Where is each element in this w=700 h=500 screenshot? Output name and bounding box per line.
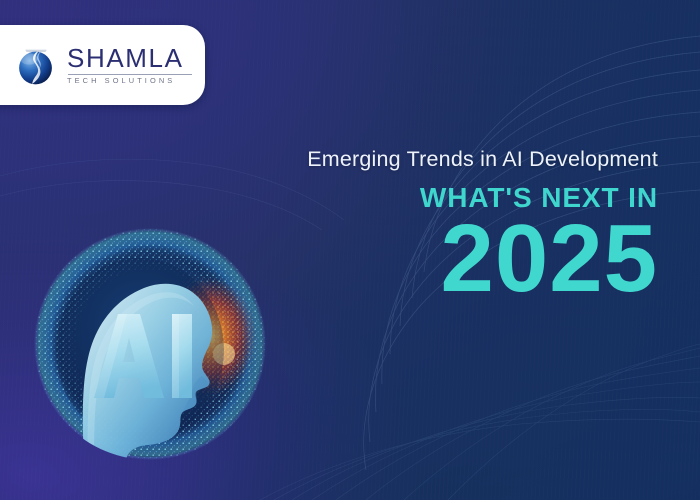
logo-tagline: TECH SOLUTIONS bbox=[67, 77, 192, 84]
brand-logo-card[interactable]: SHAMLA TECH SOLUTIONS bbox=[0, 25, 205, 105]
logo-brand-name: SHAMLA bbox=[67, 45, 192, 71]
shamla-sphere-s-mark-icon bbox=[14, 41, 58, 89]
headline-block: Emerging Trends in AI Development WHAT'S… bbox=[188, 146, 658, 308]
headline-subtitle: Emerging Trends in AI Development bbox=[188, 146, 658, 173]
logo-wordmark: SHAMLA TECH SOLUTIONS bbox=[67, 45, 192, 84]
logo-divider-rule bbox=[68, 74, 192, 75]
ai-trends-banner: SHAMLA TECH SOLUTIONS bbox=[0, 0, 700, 500]
headline-year: 2025 bbox=[188, 210, 658, 308]
